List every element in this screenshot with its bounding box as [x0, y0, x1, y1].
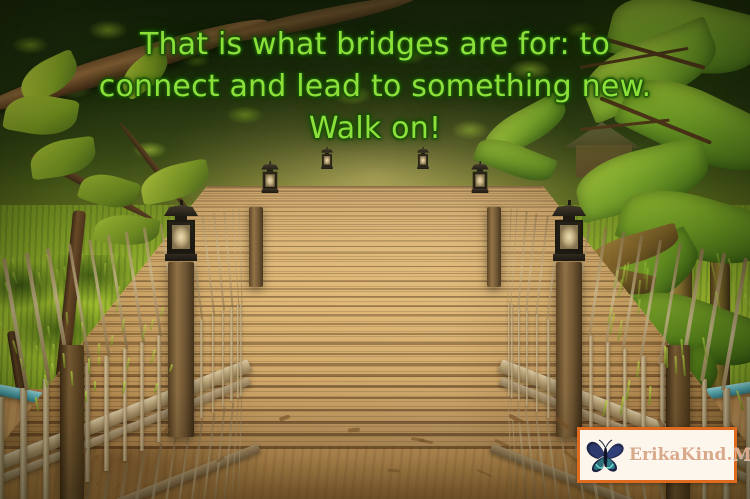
railing-baluster: [511, 304, 513, 398]
railing-baluster: [230, 307, 232, 402]
railing-baluster: [0, 397, 4, 499]
railing-x-brace: [510, 210, 518, 305]
bridge-plank-line: [200, 195, 551, 196]
grass-blade: [85, 391, 87, 402]
lantern-finial: [479, 161, 481, 164]
butterfly-icon: [584, 435, 628, 475]
lantern-roof: [321, 149, 333, 153]
lantern-roof: [417, 149, 429, 153]
railing-baluster: [157, 335, 161, 442]
lantern-base: [262, 189, 279, 193]
grass-blade: [666, 347, 668, 368]
railing-x-brace: [640, 239, 663, 357]
lantern-glass: [560, 225, 578, 249]
grass-blade: [664, 346, 666, 365]
bridge-post-front-left: [168, 262, 194, 437]
lantern-roof: [164, 205, 198, 216]
railing-x-brace: [213, 213, 225, 311]
lantern-base: [472, 189, 489, 193]
lantern-base: [321, 166, 333, 169]
lantern-finial: [422, 147, 423, 149]
bridge-railing-right: [500, 165, 750, 465]
grass-blade: [98, 343, 100, 355]
lantern-roof: [471, 164, 489, 170]
lantern-glass: [265, 174, 274, 186]
railing-x-brace: [525, 213, 537, 311]
lantern-glass: [475, 174, 484, 186]
lantern-glass: [172, 225, 190, 249]
lantern-roof: [552, 205, 586, 216]
lamp-post-lantern: [552, 200, 586, 261]
grass-blade: [82, 254, 84, 264]
railing-x-brace: [238, 397, 243, 492]
lantern-base: [165, 254, 197, 261]
railing-x-brace: [535, 215, 548, 315]
railing-baluster: [104, 356, 109, 471]
lantern-body: [555, 220, 583, 254]
railing-baluster: [518, 307, 520, 402]
bridge-post-near-left: [60, 345, 84, 499]
lantern-finial: [180, 200, 183, 205]
lantern-body: [473, 172, 488, 190]
railing-x-brace: [223, 211, 233, 308]
lantern-finial: [269, 161, 271, 164]
railing-x-brace: [517, 402, 527, 499]
railing-x-brace: [107, 462, 129, 499]
railing-x-brace: [517, 211, 527, 308]
railing-baluster: [85, 363, 90, 482]
bridge-railing-left: [0, 165, 250, 465]
railing-x-brace: [175, 426, 191, 499]
railing-baluster: [140, 342, 144, 451]
lantern-base: [417, 166, 429, 169]
railing-baluster: [212, 314, 215, 412]
bridge-post: [487, 207, 501, 287]
lamp-post-lantern: [164, 200, 198, 261]
brand-name: ErikaKind.Me: [629, 445, 750, 465]
railing-baluster: [240, 303, 242, 396]
railing-baluster: [508, 303, 510, 396]
railing-x-brace: [525, 407, 537, 499]
railing-baluster: [222, 310, 225, 406]
railing-baluster: [200, 319, 203, 419]
railing-baluster: [20, 388, 26, 499]
lantern-glass: [420, 156, 426, 165]
lantern-body: [418, 154, 428, 166]
bridge-plank-line: [202, 193, 549, 194]
railing-x-brace: [588, 227, 607, 336]
photo-quote-image: That is what bridges are for: to connect…: [0, 0, 750, 499]
wooden-footbridge: [0, 0, 750, 499]
lamp-post-lantern: [321, 147, 333, 169]
railing-x-brace: [202, 215, 215, 315]
railing-x-brace: [202, 413, 215, 499]
lamp-post-lantern: [261, 161, 279, 193]
bridge-post: [249, 207, 263, 287]
railing-x-brace: [125, 231, 145, 343]
bridge-post-front-right: [556, 262, 582, 437]
grass-blade: [88, 358, 90, 374]
railing-baluster: [526, 310, 529, 406]
grass-blade: [81, 322, 83, 333]
railing-x-brace: [88, 239, 111, 357]
railing-x-brace: [510, 399, 518, 494]
lantern-finial: [568, 200, 571, 205]
railing-baluster: [237, 304, 239, 398]
railing-x-brace: [238, 209, 243, 304]
lantern-glass: [324, 156, 330, 165]
lamp-post-lantern: [417, 147, 429, 169]
railing-baluster: [547, 319, 550, 419]
lantern-body: [322, 154, 332, 166]
railing-baluster: [589, 335, 593, 442]
lamp-post-lantern: [471, 161, 489, 193]
railing-baluster: [43, 379, 49, 499]
lantern-roof: [261, 164, 279, 170]
railing-x-brace: [213, 407, 225, 499]
railing-baluster: [536, 314, 539, 412]
railing-x-brace: [88, 472, 111, 499]
grass-blade: [94, 381, 96, 391]
grass-blade: [98, 357, 100, 365]
lantern-base: [553, 254, 585, 261]
lantern-finial: [326, 147, 327, 149]
railing-x-brace: [721, 258, 748, 391]
lantern-body: [167, 220, 195, 254]
lantern-body: [263, 172, 278, 190]
watermark-logo[interactable]: ErikaKind.Me: [577, 427, 737, 483]
